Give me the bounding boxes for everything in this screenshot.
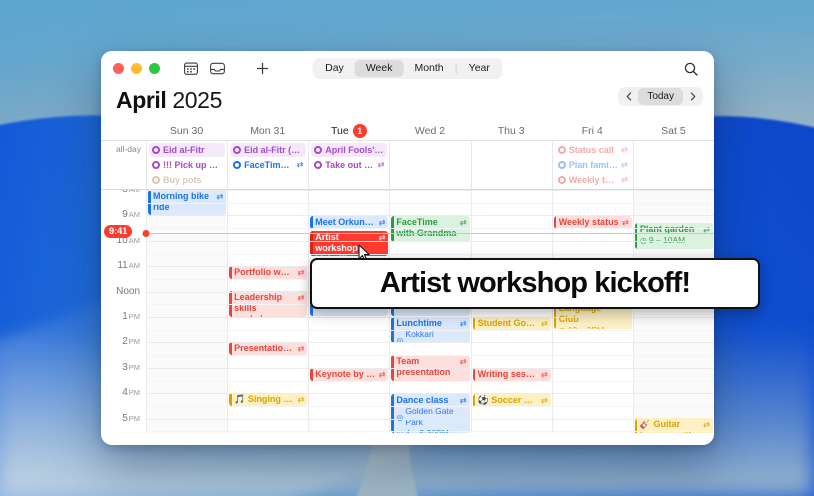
tooltip-text: Artist workshop kickoff! xyxy=(380,267,690,300)
repeat-icon: ⇄ xyxy=(378,159,385,171)
all-day-event[interactable]: Eid al-Fitr xyxy=(149,143,225,157)
all-day-event-title: April Fools' Day xyxy=(325,144,384,156)
hour-number: 8 xyxy=(122,190,128,195)
weekday-header-5[interactable]: Fri 4 xyxy=(552,122,633,140)
month-name: April xyxy=(116,87,166,113)
repeat-icon: ⇄ xyxy=(298,394,305,405)
calendar-icon[interactable] xyxy=(178,58,203,79)
repeat-icon: ⇄ xyxy=(379,217,386,228)
clock-icon: ◷ xyxy=(559,325,566,329)
weekday-header-6[interactable]: Sat 5 xyxy=(633,122,714,140)
today-button[interactable]: Today xyxy=(638,88,683,105)
day-column-5[interactable]: Weekly status⇄Sign Language Club⇄◷12 – 2… xyxy=(552,190,633,433)
hour-meridiem: AM xyxy=(129,190,140,194)
hour-number: Noon xyxy=(116,286,140,297)
repeat-icon: ⇄ xyxy=(541,395,548,406)
all-day-column-0[interactable]: Eid al-Fitr!!! Pick up arts...Buy pots xyxy=(146,141,227,189)
repeat-icon: ⇄ xyxy=(621,144,628,156)
half-hour-line-6 xyxy=(146,355,714,356)
view-tab-week[interactable]: Week xyxy=(355,60,404,77)
event-title: Keynote by Ja... xyxy=(315,369,375,380)
calendar-event[interactable]: Plant garden⇄◷9 – 10AM xyxy=(635,223,713,249)
event-status-dot-icon xyxy=(558,146,566,154)
calendar-event[interactable]: Keynote by Ja...⇄ xyxy=(310,368,388,381)
all-day-column-2[interactable]: April Fools' DayTake out the...⇄ xyxy=(308,141,389,189)
repeat-icon: ⇄ xyxy=(216,191,223,202)
all-day-event-title: FaceTime G... xyxy=(244,159,293,171)
day-column-2[interactable]: Meet Orkun fo...⇄Artist workshop kickoff… xyxy=(308,190,389,433)
all-day-columns: Eid al-Fitr!!! Pick up arts...Buy potsEi… xyxy=(146,141,714,189)
hour-meridiem: PM xyxy=(129,363,140,372)
all-day-column-3[interactable] xyxy=(389,141,470,189)
event-meta: ◷12 – 2PM xyxy=(559,325,629,329)
event-status-dot-icon xyxy=(152,146,160,154)
location-icon: ◎ xyxy=(396,412,403,423)
all-day-event[interactable]: !!! Pick up arts... xyxy=(149,158,225,172)
half-hour-line-8 xyxy=(146,406,714,407)
repeat-icon: ⇄ xyxy=(379,369,386,380)
weekday-header-3[interactable]: Wed 2 xyxy=(389,122,470,140)
hour-label-6: 2PM xyxy=(122,336,140,347)
hour-line-5 xyxy=(146,317,714,318)
weekday-label: Wed 2 xyxy=(415,125,445,137)
hour-label-1: 9AM xyxy=(122,209,140,220)
calendar-event[interactable]: Student Gover...⇄ xyxy=(473,317,551,330)
calendar-event[interactable]: Portfolio work...⇄ xyxy=(229,266,307,279)
hour-line-6 xyxy=(146,342,714,343)
event-title: Student Gover... xyxy=(478,318,538,329)
month-header: April 2025 Today xyxy=(101,86,714,122)
event-title: Writing sessio... xyxy=(478,369,538,380)
day-column-6[interactable]: Plant garden⇄◷9 – 10AM🎸 Guitar lessons w… xyxy=(633,190,714,433)
weekday-header-4[interactable]: Thu 3 xyxy=(471,122,552,140)
view-segmented-control[interactable]: Day Week Month Year xyxy=(312,58,503,79)
event-meta: ◎Kokkari Estiatorio xyxy=(396,329,466,343)
hour-number: 2 xyxy=(122,336,128,347)
weekday-label: Tue xyxy=(331,125,349,137)
page-title: April 2025 xyxy=(116,86,222,114)
calendar-window: Day Week Month Year April 2025 Today xyxy=(101,51,714,445)
year-value: 2025 xyxy=(172,87,222,113)
all-day-event[interactable]: Status call⇄ xyxy=(555,143,631,157)
segment-divider xyxy=(456,63,457,74)
event-meta-text: Kokkari Estiatorio xyxy=(405,329,466,343)
current-time-line xyxy=(146,233,714,234)
all-day-event-title: Eid al-Fitr xyxy=(163,144,222,156)
repeat-icon: ⇄ xyxy=(460,217,467,228)
weekday-label: Fri 4 xyxy=(582,125,603,137)
weekday-header-2[interactable]: Tue1 xyxy=(308,122,389,140)
all-day-column-6[interactable] xyxy=(633,141,714,189)
close-button[interactable] xyxy=(113,63,124,74)
calendar-event[interactable]: Writing sessio...⇄ xyxy=(473,368,551,381)
all-day-label: all-day xyxy=(101,141,146,189)
hour-line-8 xyxy=(146,393,714,394)
half-hour-line-7 xyxy=(146,381,714,382)
repeat-icon: ⇄ xyxy=(298,343,305,354)
time-grid[interactable]: 8AM9AM10AM11AMNoon1PM2PM3PM4PM5PM Mornin… xyxy=(101,190,714,433)
view-tab-year[interactable]: Year xyxy=(458,60,501,77)
all-day-column-4[interactable] xyxy=(471,141,552,189)
current-time-badge: 9:41 xyxy=(104,225,132,238)
all-day-event-title: Buy pots xyxy=(163,174,222,186)
all-day-event-title: !!! Pick up arts... xyxy=(163,159,222,171)
all-day-column-1[interactable]: Eid al-Fitr (obs...FaceTime G...⇄ xyxy=(227,141,308,189)
view-tab-day[interactable]: Day xyxy=(314,60,355,77)
half-hour-line-1 xyxy=(146,228,714,229)
hour-label-7: 3PM xyxy=(122,362,140,373)
weekday-label: Mon 31 xyxy=(250,125,285,137)
weekday-label: Thu 3 xyxy=(498,125,525,137)
hour-line-9 xyxy=(146,419,714,420)
event-title: ⚽ Soccer pra... xyxy=(478,395,538,406)
date-navigation[interactable]: Today xyxy=(618,87,703,106)
calendar-event[interactable]: 🎵 Singing gr...⇄ xyxy=(229,393,307,406)
hour-label-3: 11AM xyxy=(117,260,140,271)
all-day-event-title: Plan family... xyxy=(569,159,618,171)
event-tooltip: Artist workshop kickoff! xyxy=(310,258,760,309)
hour-number: 1 xyxy=(122,311,128,322)
repeat-icon: ⇄ xyxy=(298,267,305,278)
weekday-label: Sun 30 xyxy=(170,125,203,137)
half-hour-line-5 xyxy=(146,330,714,331)
day-column-4[interactable]: Student Gover...⇄Writing sessio...⇄⚽ Soc… xyxy=(471,190,552,433)
all-day-event-title: Take out the... xyxy=(325,159,374,171)
calendar-event[interactable]: Weekly status⇄ xyxy=(554,216,632,229)
repeat-icon: ⇄ xyxy=(541,369,548,380)
hour-meridiem: PM xyxy=(129,388,140,397)
event-status-dot-icon xyxy=(233,161,241,169)
window-traffic-lights xyxy=(101,63,160,74)
hour-label-8: 4PM xyxy=(122,387,140,398)
view-tab-month[interactable]: Month xyxy=(403,60,454,77)
event-status-dot-icon xyxy=(152,176,160,184)
hour-label-0: 8AM xyxy=(122,190,140,195)
hour-meridiem: AM xyxy=(129,236,140,245)
event-title: 🎵 Singing gr... xyxy=(234,394,294,405)
weekday-header-1[interactable]: Mon 31 xyxy=(227,122,308,140)
hour-label-5: 1PM xyxy=(122,311,140,322)
hour-meridiem: AM xyxy=(129,210,140,219)
weekday-label: Sat 5 xyxy=(661,125,686,137)
hour-meridiem: AM xyxy=(129,261,140,270)
all-day-event-title: Status call xyxy=(569,144,618,156)
repeat-icon: ⇄ xyxy=(460,318,467,329)
hour-label-9: 5PM xyxy=(122,413,140,424)
repeat-icon: ⇄ xyxy=(622,217,629,228)
repeat-icon: ⇄ xyxy=(621,159,628,171)
current-time-dot xyxy=(143,230,150,237)
window-titlebar: Day Week Month Year xyxy=(101,51,714,86)
all-day-event[interactable]: Take out the...⇄ xyxy=(311,158,387,172)
event-meta-text: Golden Gate Park xyxy=(405,406,466,428)
hour-meridiem: PM xyxy=(129,414,140,423)
hour-number: 9 xyxy=(122,209,128,220)
toolbar-left-group xyxy=(178,58,275,79)
event-title: Weekly status xyxy=(559,217,619,228)
repeat-icon: ⇄ xyxy=(460,395,467,406)
today-date-badge: 1 xyxy=(353,124,367,138)
event-status-dot-icon xyxy=(558,161,566,169)
hour-number: 4 xyxy=(122,387,128,398)
repeat-icon: ⇄ xyxy=(298,292,305,303)
repeat-icon: ⇄ xyxy=(703,419,710,430)
hour-number: 11 xyxy=(117,260,127,271)
previous-week-button[interactable] xyxy=(619,88,638,105)
day-column-3[interactable]: ◷11AM – 1PMFaceTime with Grandma⇄Lunchti… xyxy=(389,190,470,433)
event-status-dot-icon xyxy=(233,146,241,154)
calendar-event[interactable]: Meet Orkun fo...⇄ xyxy=(310,216,388,229)
repeat-icon: ⇄ xyxy=(460,356,467,367)
hour-line-0 xyxy=(146,190,714,191)
weekday-header-row: Sun 30Mon 31Tue1Wed 2Thu 3Fri 4Sat 5 xyxy=(101,122,714,141)
all-day-event[interactable]: FaceTime G...⇄ xyxy=(230,158,306,172)
all-day-event[interactable]: Weekly tea...⇄ xyxy=(555,173,631,187)
hour-number: 5 xyxy=(122,413,128,424)
search-icon[interactable] xyxy=(680,58,702,79)
hour-meridiem: PM xyxy=(129,312,140,321)
event-meta-text: 12 – 2PM xyxy=(568,325,604,329)
half-hour-line-9 xyxy=(146,431,714,432)
event-status-dot-icon xyxy=(152,161,160,169)
hour-meridiem: PM xyxy=(129,337,140,346)
calendar-event[interactable]: Dance class⇄◎Golden Gate Park◷4 – 5:30PM xyxy=(391,394,469,433)
day-column-0[interactable]: Morning bike ride⇄ xyxy=(146,190,227,433)
all-day-row: all-day Eid al-Fitr!!! Pick up arts...Bu… xyxy=(101,141,714,190)
hour-label-4: Noon xyxy=(116,286,140,297)
half-hour-line-2 xyxy=(146,254,714,255)
all-day-event[interactable]: Buy pots xyxy=(149,173,225,187)
repeat-icon: ⇄ xyxy=(621,174,628,186)
repeat-icon: ⇄ xyxy=(297,159,304,171)
event-status-dot-icon xyxy=(314,146,322,154)
all-day-column-5[interactable]: Status call⇄Plan family...⇄Weekly tea...… xyxy=(552,141,633,189)
event-title: Portfolio work... xyxy=(234,267,294,278)
maximize-button[interactable] xyxy=(149,63,160,74)
all-day-event[interactable]: Eid al-Fitr (obs... xyxy=(230,143,306,157)
calendar-event[interactable]: Presentation...⇄ xyxy=(229,342,307,355)
event-title: Meet Orkun fo... xyxy=(315,217,375,228)
event-status-dot-icon xyxy=(314,161,322,169)
hour-line-7 xyxy=(146,368,714,369)
inbox-icon[interactable] xyxy=(205,58,230,79)
weekday-header-0[interactable]: Sun 30 xyxy=(146,122,227,140)
event-title: Dance class xyxy=(396,395,456,406)
all-day-event[interactable]: Plan family...⇄ xyxy=(555,158,631,172)
next-week-button[interactable] xyxy=(683,88,702,105)
day-columns[interactable]: Morning bike ride⇄Portfolio work...⇄Lead… xyxy=(146,190,714,433)
minimize-button[interactable] xyxy=(131,63,142,74)
event-title: Presentation... xyxy=(234,343,294,354)
half-hour-line-0 xyxy=(146,203,714,204)
hour-line-2 xyxy=(146,241,714,242)
event-meta: ◎Golden Gate Park xyxy=(396,406,466,428)
calendar-event[interactable]: Artist workshop kickoff!⇄ xyxy=(310,231,388,256)
all-day-event-title: Eid al-Fitr (obs... xyxy=(244,144,303,156)
all-day-event-title: Weekly tea... xyxy=(569,174,618,186)
repeat-icon: ⇄ xyxy=(541,318,548,329)
hour-line-1 xyxy=(146,215,714,216)
day-column-1[interactable]: Portfolio work...⇄Leadership skills work… xyxy=(227,190,308,433)
add-event-button[interactable] xyxy=(250,58,275,79)
all-day-event[interactable]: April Fools' Day xyxy=(311,143,387,157)
hour-number: 3 xyxy=(122,362,128,373)
event-status-dot-icon xyxy=(558,176,566,184)
event-title: Lunchtime xyxy=(396,318,456,329)
